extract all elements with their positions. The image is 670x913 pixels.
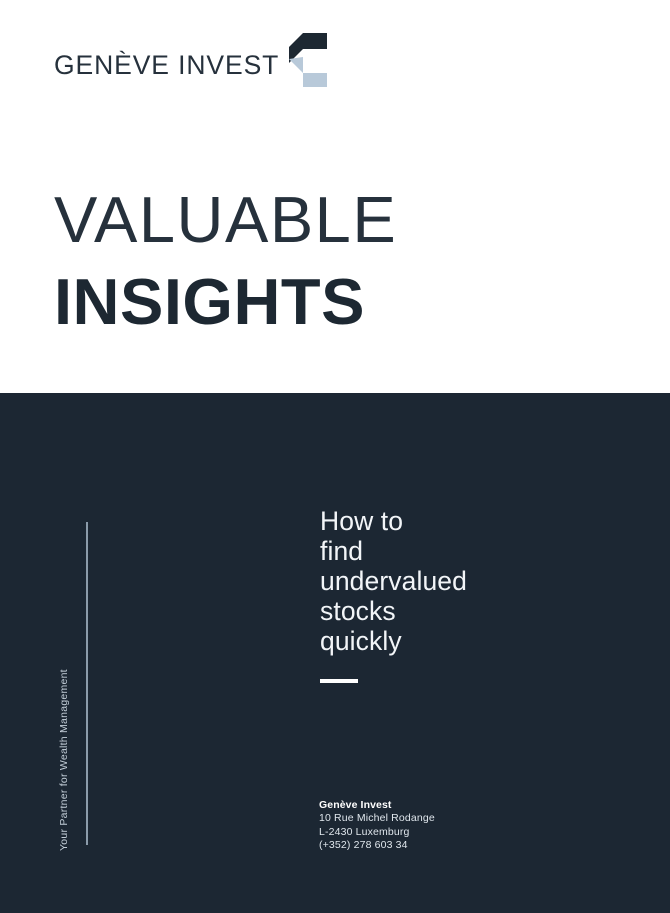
headline-line: find bbox=[320, 536, 560, 566]
address-city: L-2430 Luxemburg bbox=[319, 826, 435, 840]
cover-title-line-2: INSIGHTS bbox=[54, 268, 397, 336]
cover-title: VALUABLE INSIGHTS bbox=[54, 186, 397, 336]
headline-line: undervalued bbox=[320, 566, 560, 596]
headline-underline-rule bbox=[320, 679, 358, 683]
cover-title-line-1: VALUABLE bbox=[54, 186, 397, 254]
headline: How to find undervalued stocks quickly bbox=[320, 506, 560, 656]
address-street: 10 Rue Michel Rodange bbox=[319, 812, 435, 826]
cover-page: GENÈVE INVEST VALUABLE INSIGHTS Your Par… bbox=[0, 0, 670, 913]
vertical-divider bbox=[86, 522, 88, 845]
geneve-invest-chevron-logo-icon bbox=[286, 31, 330, 87]
headline-line: How to bbox=[320, 506, 560, 536]
brand-logo[interactable]: GENÈVE INVEST bbox=[54, 38, 330, 90]
headline-line: quickly bbox=[320, 626, 560, 656]
address-company: Genève Invest bbox=[319, 798, 435, 812]
vertical-tagline: Your Partner for Wealth Management bbox=[58, 621, 70, 851]
contact-address: Genève Invest 10 Rue Michel Rodange L-24… bbox=[319, 798, 435, 853]
brand-wordmark: GENÈVE INVEST bbox=[54, 52, 279, 79]
headline-line: stocks bbox=[320, 596, 560, 626]
address-phone: (+352) 278 603 34 bbox=[319, 839, 435, 853]
